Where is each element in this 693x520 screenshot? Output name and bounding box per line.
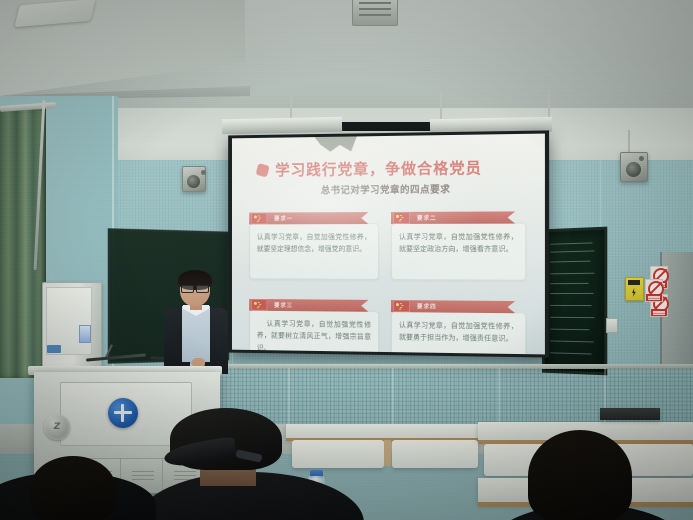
requirement-ribbon: 要求一 xyxy=(249,212,368,224)
requirement-box: 要求三 认真学习党章，自觉加强党性修养，就要树立清风正气，增强宗旨意识。 xyxy=(249,287,379,354)
blackboard-right xyxy=(542,227,607,376)
ceiling-vent xyxy=(352,0,398,26)
requirement-label: 要求二 xyxy=(417,214,437,222)
requirement-text: 认真学习党章，自觉加强党性修养，就要勇于担当作为，增强责任意识。 xyxy=(391,311,526,354)
wainscot-seam xyxy=(604,368,606,430)
audience-member-capped xyxy=(170,408,410,520)
requirement-text: 认真学习党章，自觉加强党性修养，就要坚定理想信念，增强党的意识。 xyxy=(249,223,379,280)
china-flag-icon xyxy=(393,300,410,312)
requirement-ribbon: 要求三 xyxy=(249,299,368,312)
slide-title-row: 学习践行党章，争做合格党员 xyxy=(257,156,518,180)
requirement-label: 要求一 xyxy=(274,214,293,222)
electrical-hazard-sign xyxy=(625,277,644,301)
slide-subtitle: 总书记对学习党章的四点要求 xyxy=(232,181,545,197)
head-back-of xyxy=(30,456,116,520)
institution-crest-icon xyxy=(108,398,138,428)
requirement-box: 要求四 认真学习党章，自觉加强党性修养，就要勇于担当作为，增强责任意识。 xyxy=(391,288,526,354)
speaker-cone xyxy=(187,175,200,188)
cabinet-sticker xyxy=(79,325,91,343)
cabinet-logo xyxy=(47,345,61,353)
china-flag-icon xyxy=(393,212,410,224)
speaker-tweeter xyxy=(639,156,644,161)
requirement-box: 要求二 认真学习党章，自觉加强党性修养，就要坚定政治方向，增强看齐意识。 xyxy=(391,199,526,281)
rear-desk-dark xyxy=(600,408,660,420)
classroom-photo-scene: 学习践行党章，争做合格党员 总书记对学习党章的四点要求 要求一 认真学习党章，自… xyxy=(0,0,693,520)
wainscot-seam xyxy=(498,368,500,430)
requirement-label: 要求三 xyxy=(274,301,293,309)
no-entry-sign xyxy=(645,279,663,302)
wall-speaker-right xyxy=(620,152,648,182)
requirement-text: 认真学习党章，自觉加强党性修养，就要树立清风正气，增强宗旨意识。 xyxy=(249,310,379,355)
head-back-of xyxy=(528,430,632,520)
glasses-icon xyxy=(181,285,209,291)
slide-title: 学习践行党章，争做合格党员 xyxy=(275,157,482,180)
screen-housing-left xyxy=(222,117,342,135)
bullet-dot-icon xyxy=(256,163,270,177)
wall-speaker-left xyxy=(182,166,206,192)
presentation-slide: 学习践行党章，争做合格党员 总书记对学习党章的四点要求 要求一 认真学习党章，自… xyxy=(232,134,545,355)
requirement-boxes: 要求一 认真学习党章，自觉加强党性修养，就要坚定理想信念，增强党的意识。 要求二… xyxy=(249,199,526,354)
screen-surface: 学习践行党章，争做合格党员 总书记对学习党章的四点要求 要求一 认真学习党章，自… xyxy=(232,134,545,355)
china-flag-icon xyxy=(251,213,267,225)
computer-cabinet xyxy=(42,282,102,370)
requirement-box: 要求一 认真学习党章，自觉加强党性修养，就要坚定理想信念，增强党的意识。 xyxy=(249,200,379,280)
speaker-cone xyxy=(626,162,641,177)
requirement-ribbon: 要求二 xyxy=(391,211,515,224)
audience-member-right xyxy=(528,430,693,520)
screen-housing-gap xyxy=(340,122,436,131)
projection-screen: 学习践行党章，争做合格党员 总书记对学习党章的四点要求 要求一 认真学习党章，自… xyxy=(228,130,549,357)
audience-member-left xyxy=(0,462,150,520)
wall-light-switch[interactable] xyxy=(606,318,618,333)
requirement-ribbon: 要求四 xyxy=(391,300,515,313)
speaker-tweeter xyxy=(201,170,206,175)
china-flag-icon xyxy=(251,299,267,311)
requirement-label: 要求四 xyxy=(417,302,437,310)
presenter xyxy=(158,272,232,374)
requirement-text: 认真学习党章，自觉加强党性修养，就要坚定政治方向，增强看齐意识。 xyxy=(391,223,526,281)
speaker-wire xyxy=(628,130,630,152)
podium-medallion-left: Z xyxy=(44,414,70,440)
